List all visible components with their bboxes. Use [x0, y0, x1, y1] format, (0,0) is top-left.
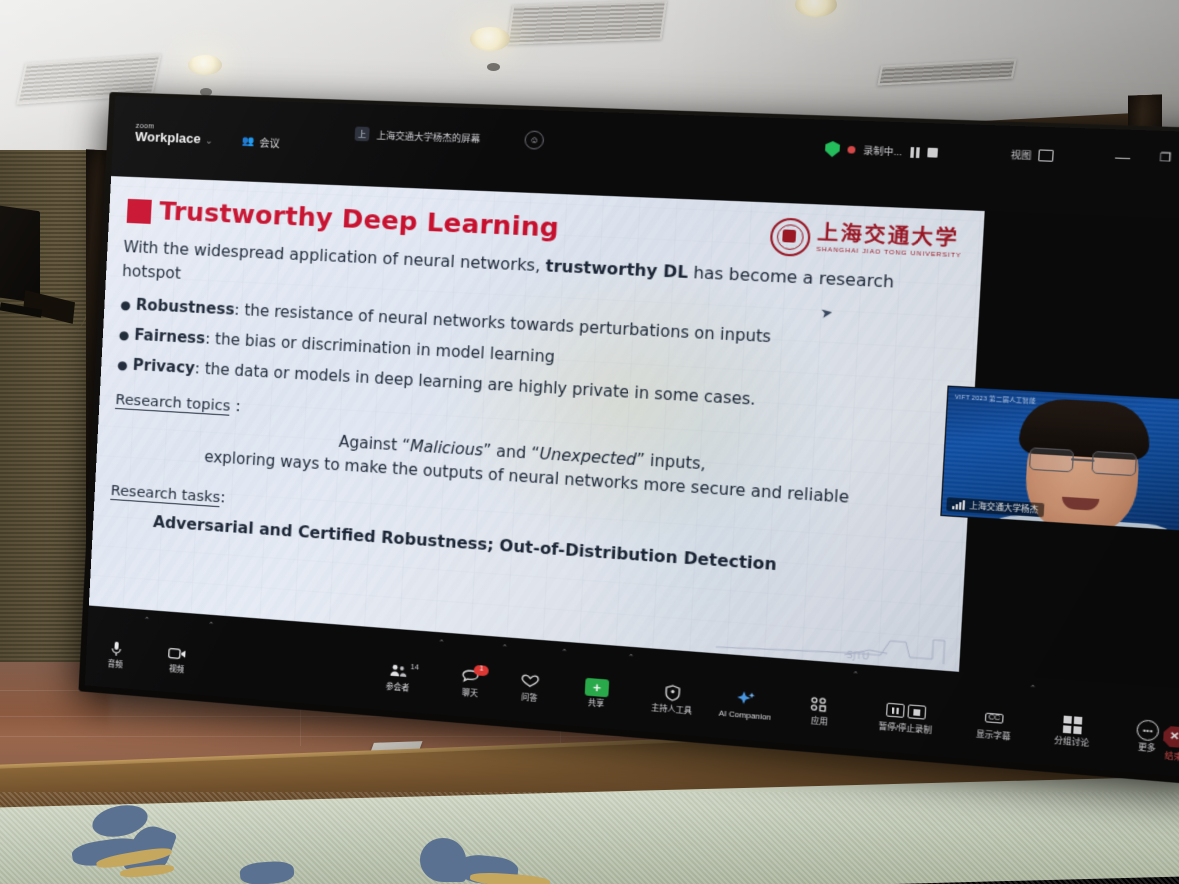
zoom-logo: zoom Workplace: [135, 123, 202, 146]
toolbar-item-apps[interactable]: 应用: [809, 694, 831, 726]
share-chevron-icon[interactable]: ⌃: [626, 653, 634, 691]
people-icon: 14: [389, 661, 408, 681]
bullet-text: : the bias or discrimination in model le…: [205, 329, 556, 366]
microphone-icon: [110, 639, 123, 658]
captions-chevron-icon[interactable]: ⌃: [1027, 684, 1036, 723]
topics-b: ” and “: [483, 441, 541, 463]
qa-icon: [521, 671, 540, 691]
bullet-dot-icon: ●: [119, 329, 130, 342]
shared-screen-title: 上 上海交通大学杨杰的屏幕: [355, 127, 481, 146]
toolbar-item-chat[interactable]: 1 聊天: [461, 667, 480, 698]
intro-bold: trustworthy DL: [545, 257, 688, 282]
glasses-bridge: [1071, 458, 1094, 461]
security-shield-icon[interactable]: [825, 141, 840, 157]
audio-chevron-icon[interactable]: ⌃: [142, 616, 150, 653]
bullet-dot-icon: ●: [117, 359, 128, 372]
research-topics-label: Research topics: [115, 392, 231, 416]
recording-status-label: 录制中...: [863, 143, 903, 158]
record-label: 暂停/停止录制: [878, 722, 932, 734]
shield-icon: [664, 683, 680, 703]
participants-chevron-icon[interactable]: ⌃: [437, 638, 445, 675]
sjtu-seal-icon: [769, 217, 811, 257]
participants-label: 参会者: [386, 682, 410, 692]
audio-label: 音频: [108, 660, 123, 669]
research-tasks-label: Research tasks: [110, 483, 220, 507]
toolbar-item-ai-companion[interactable]: AI Companion: [719, 687, 773, 721]
bullet-term: Privacy: [132, 356, 195, 378]
ellipsis-icon: •••: [1136, 720, 1159, 741]
slide-body: With the widespread application of neura…: [109, 235, 965, 586]
share-label: 共享: [588, 698, 605, 707]
topics-malicious: Malicious: [410, 437, 484, 460]
cc-icon: CC: [984, 708, 1004, 729]
reactions-icon[interactable]: ☺: [524, 130, 544, 149]
captions-label: 显示字幕: [976, 730, 1011, 741]
window-minimize-button[interactable]: —: [1115, 149, 1131, 166]
mouse-cursor-icon: ➤: [819, 304, 834, 323]
title-accent-square: [127, 199, 152, 224]
chat-unread-badge: 1: [474, 664, 489, 675]
topics-c: ” inputs,: [636, 451, 706, 474]
shared-slide: Trustworthy Deep Learning 上海交通大学 SHANGHA…: [89, 176, 985, 672]
chevron-down-icon[interactable]: ⌄: [205, 135, 213, 146]
recording-dot-icon: [847, 146, 855, 154]
qa-chevron-icon[interactable]: ⌃: [559, 648, 567, 686]
glasses-lens-left: [1029, 447, 1074, 472]
window-maximize-button[interactable]: ❐: [1159, 150, 1171, 165]
sparkle-icon: [735, 688, 756, 709]
signal-bars-icon: [952, 500, 965, 510]
shared-screen-title-text: 上海交通大学杨杰的屏幕: [376, 128, 480, 145]
glasses-lens-right: [1091, 451, 1137, 476]
apps-label: 应用: [811, 716, 828, 725]
ai-companion-label: AI Companion: [719, 709, 772, 721]
toolbar-item-video[interactable]: 视频: [167, 643, 187, 673]
toolbar-item-participants[interactable]: 14 参会者: [386, 661, 411, 692]
end-label: 结束: [1164, 750, 1179, 763]
pause-recording-icon[interactable]: [910, 147, 920, 158]
display-screen: zoom Workplace ⌄ 👥 会议 上 上海交通大学杨杰的屏幕 ☺ 录制…: [85, 96, 1179, 779]
participants-count: 14: [410, 663, 419, 671]
sjtu-logo-cn: 上海交通大学: [817, 223, 963, 249]
view-layout-icon: [1038, 149, 1054, 161]
pause-icon: [886, 703, 905, 718]
zoom-brand-name: Workplace: [135, 130, 201, 146]
recording-status: 录制中...: [825, 141, 938, 161]
bullet-dot-icon: ●: [120, 299, 131, 312]
toolbar-item-share[interactable]: + 共享: [584, 677, 609, 707]
more-label: 更多: [1138, 743, 1156, 753]
grid-icon: [1063, 714, 1083, 735]
svg-text:SJTU: SJTU: [846, 650, 870, 662]
conference-room-photo: zoom Workplace ⌄ 👥 会议 上 上海交通大学杨杰的屏幕 ☺ 录制…: [0, 0, 1179, 884]
host-tools-label: 主持人工具: [651, 703, 692, 714]
video-label: 视频: [169, 665, 184, 674]
stop-recording-icon[interactable]: [927, 148, 938, 158]
share-plus-icon: +: [585, 677, 610, 697]
end-call-icon: ✕: [1163, 726, 1179, 748]
chat-label: 聊天: [462, 688, 478, 697]
toolbar-item-more[interactable]: ••• 更多: [1135, 720, 1159, 753]
view-label: 视图: [1010, 147, 1032, 162]
video-chevron-icon[interactable]: ⌃: [206, 621, 214, 658]
qa-label: 问答: [521, 693, 537, 702]
toolbar-item-breakout[interactable]: 分组讨论: [1054, 713, 1091, 747]
toolbar-item-captions[interactable]: CC 显示字幕: [976, 707, 1012, 740]
bullet-term: Robustness: [135, 296, 235, 319]
meetings-label: 会议: [259, 134, 280, 150]
people-icon: 👥: [241, 136, 254, 148]
meetings-button[interactable]: 👥 会议: [241, 134, 280, 151]
apps-icon: [810, 694, 831, 715]
end-meeting-button[interactable]: ✕ 结束: [1162, 726, 1179, 764]
toolbar-item-audio[interactable]: 音频: [108, 639, 124, 669]
apps-chevron-icon[interactable]: ⌃: [850, 670, 859, 709]
toolbar-item-record[interactable]: 暂停/停止录制: [878, 699, 933, 734]
topics-unexpected: Unexpected: [539, 445, 637, 470]
view-button[interactable]: 视图: [1010, 147, 1053, 163]
share-source-chip: 上: [355, 127, 370, 142]
stop-icon: [907, 704, 926, 719]
research-topics-colon: :: [230, 396, 242, 416]
toolbar-item-host-tools[interactable]: 主持人工具: [651, 682, 693, 715]
camera-icon: [168, 643, 187, 663]
pause-stop-icon: [886, 700, 927, 722]
bullet-term: Fairness: [134, 326, 206, 348]
research-tasks-colon: :: [220, 487, 226, 507]
toolbar-item-qa[interactable]: 问答: [520, 671, 540, 702]
led-display: zoom Workplace ⌄ 👥 会议 上 上海交通大学杨杰的屏幕 ☺ 录制…: [0, 0, 1179, 884]
speaker-video-thumbnail[interactable]: VIFT 2023 第二届人工智能 上海交通大学杨杰: [940, 386, 1179, 535]
chat-bubble-icon: 1: [461, 667, 480, 687]
topics-a: Against “: [338, 433, 410, 456]
chat-chevron-icon[interactable]: ⌃: [500, 643, 508, 681]
breakout-label: 分组讨论: [1054, 736, 1089, 747]
